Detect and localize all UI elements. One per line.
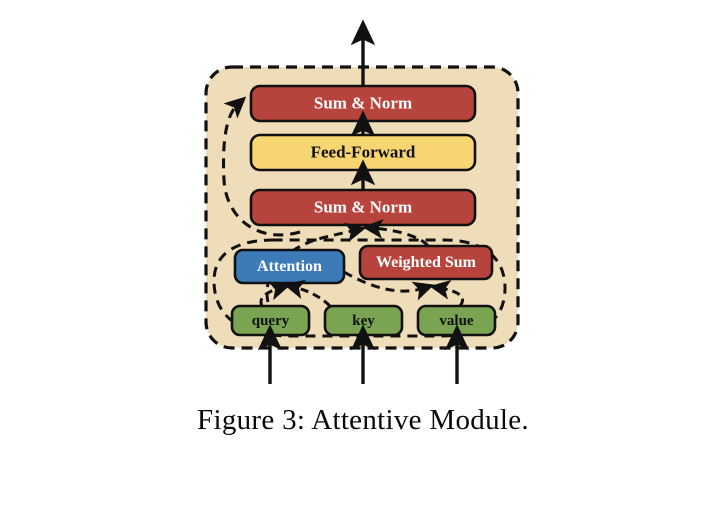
block-key[interactable]: key: [325, 306, 402, 335]
block-attention[interactable]: Attention: [235, 250, 344, 283]
block-sum-norm-lower[interactable]: Sum & Norm: [251, 190, 475, 225]
sum-norm-top-label: Sum & Norm: [314, 93, 412, 112]
key-label: key: [352, 313, 375, 329]
attention-label: Attention: [257, 258, 322, 275]
weighted-sum-label: Weighted Sum: [376, 254, 477, 271]
query-label: query: [252, 313, 290, 329]
block-value[interactable]: value: [418, 306, 495, 335]
block-sum-norm-top[interactable]: Sum & Norm: [251, 86, 475, 121]
block-weighted-sum[interactable]: Weighted Sum: [360, 246, 492, 279]
sum-norm-lower-label: Sum & Norm: [314, 197, 412, 216]
value-label: value: [439, 313, 474, 329]
figure-caption: Figure 3: Attentive Module.: [0, 404, 726, 437]
block-query[interactable]: query: [232, 306, 309, 335]
block-feed-forward[interactable]: Feed-Forward: [251, 135, 475, 170]
feed-forward-label: Feed-Forward: [311, 142, 416, 161]
figure-container: Sum & Norm Feed-Forward Sum & Norm Atten…: [0, 0, 726, 514]
